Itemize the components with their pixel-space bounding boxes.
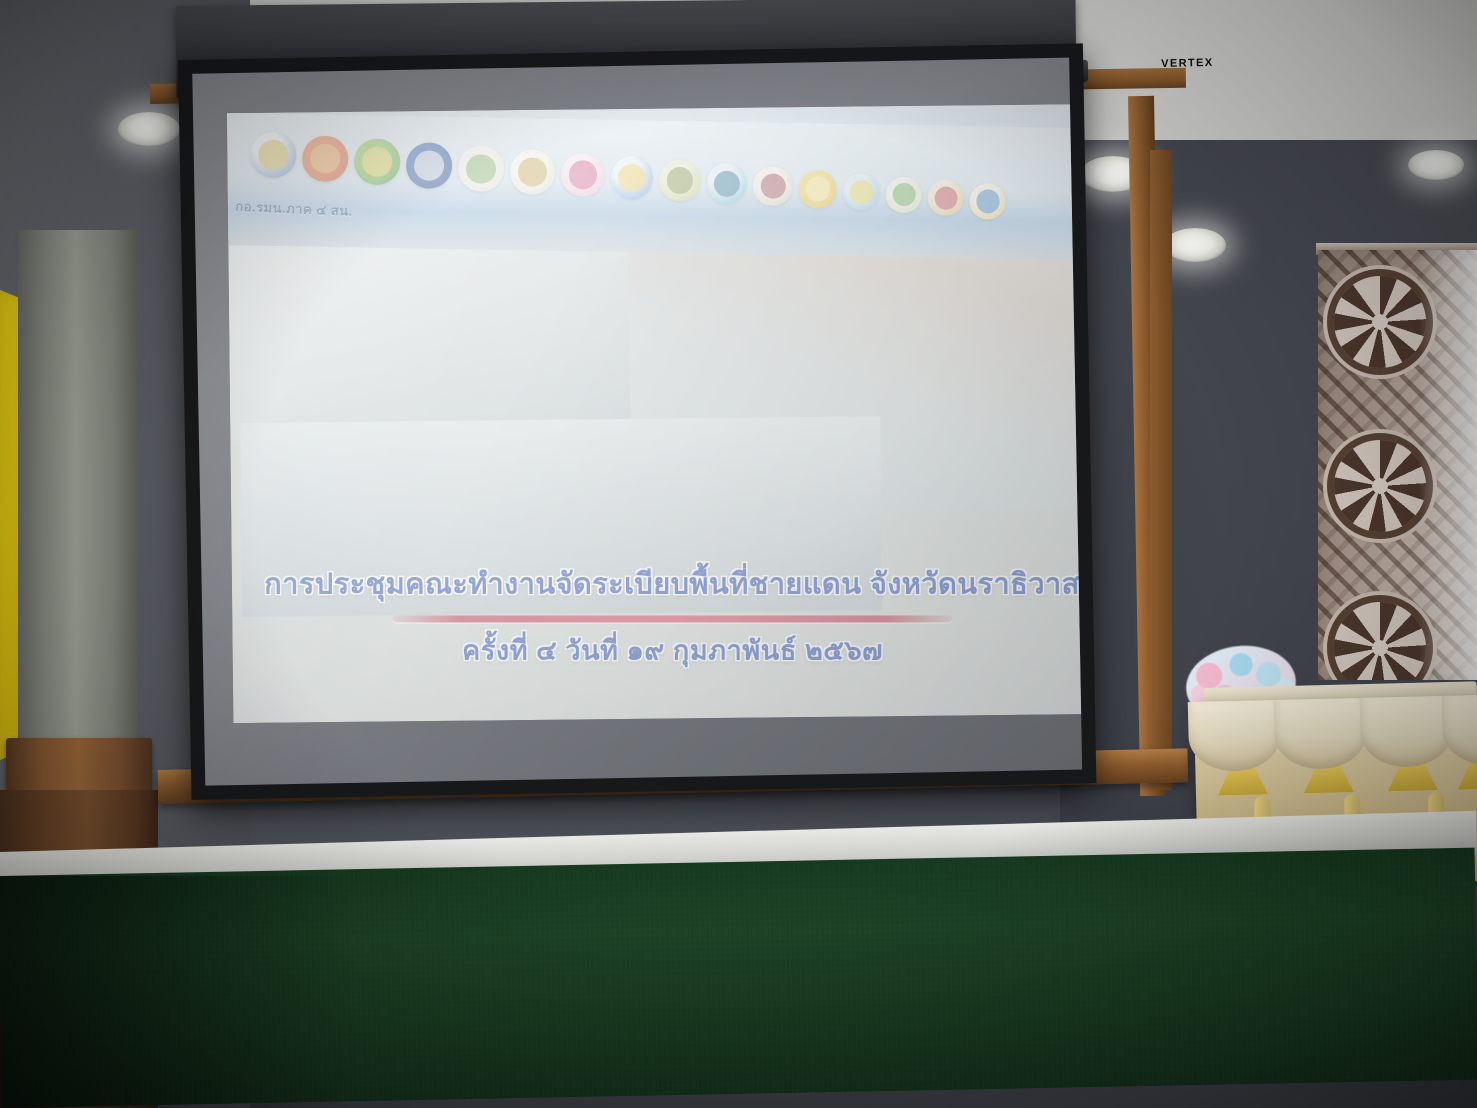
lattice-backlight-glow [1419, 250, 1477, 680]
agency-logo-8-icon [610, 156, 653, 199]
lattice-flower-motif [1334, 276, 1426, 368]
agency-logo-11-emblem [760, 174, 786, 200]
agency-logo-4-emblem [414, 150, 444, 180]
projection-screen[interactable]: กอ.รมน.ภาค ๔ สน. การประชุมคณะทำงานจัดระเ… [178, 43, 1096, 799]
agency-logo-12-emblem [805, 177, 830, 202]
agency-logo-14-icon [886, 176, 923, 213]
agency-logo-7-emblem [568, 161, 597, 190]
agency-logo-3-emblem [362, 147, 392, 177]
agency-logo-4-icon [406, 142, 453, 189]
agency-logo-row [249, 132, 1007, 220]
agency-logo-15-icon [928, 180, 965, 217]
stage-column [18, 230, 138, 790]
slide-title-block: การประชุมคณะทำงานจัดระเบียบพื้นที่ชายแดน… [232, 556, 1082, 676]
agency-logo-5-emblem [466, 154, 496, 184]
agency-logo-16-emblem [976, 190, 999, 213]
agency-logo-10-emblem [714, 170, 740, 196]
ceiling-downlight-icon [1408, 150, 1464, 180]
agency-logo-5-icon [458, 146, 505, 193]
agency-logo-10-icon [706, 163, 747, 204]
unit-caption: กอ.รมน.ภาค ๔ สน. [235, 196, 353, 222]
slide-title-line-2: ครั้งที่ ๔ วันที่ ๑๙ กุมภาพันธ์ ๒๕๖๗ [233, 628, 1083, 671]
agency-logo-11-icon [753, 166, 793, 206]
agency-logo-9-emblem [667, 167, 694, 194]
skirt-swag [1274, 698, 1368, 770]
agency-logo-6-icon [510, 149, 556, 195]
projected-slide: กอ.รมน.ภาค ๔ สน. การประชุมคณะทำงานจัดระเ… [227, 104, 1082, 723]
skirt-swag [1442, 694, 1477, 766]
projection-surface: กอ.รมน.ภาค ๔ สน. การประชุมคณะทำงานจัดระเ… [192, 58, 1082, 786]
floor-shadow [0, 876, 360, 1108]
agency-logo-13-icon [843, 173, 881, 211]
skirt-swag [1188, 700, 1282, 772]
agency-logo-7-icon [560, 153, 605, 198]
lattice-flower-motif [1334, 440, 1426, 532]
agency-logo-2-icon [302, 135, 349, 182]
agency-logo-2-emblem [310, 143, 340, 173]
slide-title-line-1: การประชุมคณะทำงานจัดระเบียบพื้นที่ชายแดน… [232, 560, 1082, 606]
agency-logo-14-emblem [892, 183, 916, 207]
agency-logo-13-emblem [849, 180, 873, 204]
skirt-swag [1360, 696, 1454, 768]
wood-frame-right-rail-inner [1150, 150, 1172, 790]
ceiling-downlight-icon [1164, 228, 1226, 262]
agency-logo-1-icon [250, 132, 297, 179]
agency-logo-16-icon [970, 183, 1007, 220]
ceiling-downlight-icon [118, 112, 180, 146]
agency-logo-8-emblem [618, 164, 646, 192]
agency-logo-12-icon [798, 170, 837, 209]
agency-logo-9-icon [659, 159, 701, 201]
agency-logo-band: กอ.รมน.ภาค ๔ สน. [227, 113, 1082, 260]
agency-logo-1-emblem [258, 140, 288, 170]
conference-room-scene: VERTEX กอ.รมน.ภาค ๔ สน. [0, 0, 1477, 1108]
carved-wood-lattice-panel [1318, 250, 1477, 680]
photo-collage [228, 208, 1082, 617]
agency-logo-15-emblem [934, 186, 957, 209]
screen-brand-label: VERTEX [1161, 57, 1214, 70]
agency-logo-3-icon [354, 139, 401, 186]
title-underline-rule [392, 615, 952, 622]
agency-logo-6-emblem [518, 157, 547, 186]
